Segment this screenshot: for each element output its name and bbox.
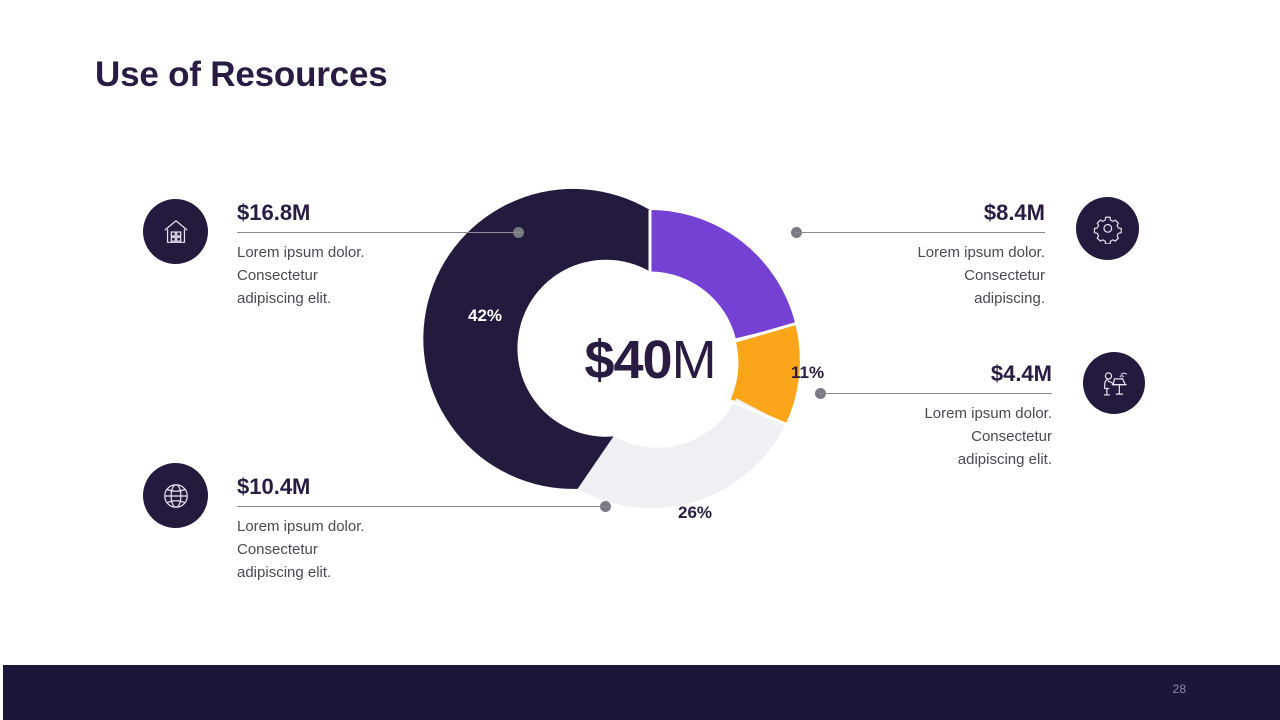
callout-rule-top-right bbox=[795, 232, 1045, 233]
donut-chart-svg bbox=[500, 210, 800, 510]
callout-icon-house[interactable] bbox=[143, 199, 208, 264]
callout-amount-top-left: $16.8M bbox=[237, 201, 522, 225]
gear-icon bbox=[1093, 214, 1123, 244]
callout-amount-top-right: $8.4M bbox=[795, 201, 1045, 225]
person-desk-wifi-icon bbox=[1099, 368, 1130, 399]
callout-rule-bottom-right bbox=[820, 393, 1052, 394]
footer-bar bbox=[3, 665, 1280, 720]
callout-bottom-right: $4.4M Lorem ipsum dolor. Consectetur adi… bbox=[820, 362, 1052, 472]
callout-amount-bottom-left: $10.4M bbox=[237, 475, 610, 499]
page-number: 28 bbox=[1173, 682, 1186, 696]
callout-rule-bottom-left bbox=[237, 506, 610, 507]
callout-top-left: $16.8M Lorem ipsum dolor. Consectetur ad… bbox=[237, 201, 522, 311]
callout-desc-bottom-left: Lorem ipsum dolor. Consectetur adipiscin… bbox=[237, 516, 610, 584]
callout-icon-gear[interactable] bbox=[1076, 197, 1139, 260]
callout-desc-bottom-right: Lorem ipsum dolor. Consectetur adipiscin… bbox=[820, 403, 1052, 471]
callout-desc-top-right: Lorem ipsum dolor. Consectetur adipiscin… bbox=[795, 242, 1045, 310]
callout-icon-person-desk[interactable] bbox=[1083, 352, 1145, 414]
donut-chart bbox=[500, 210, 800, 510]
callout-amount-bottom-right: $4.4M bbox=[820, 362, 1052, 386]
house-icon bbox=[161, 217, 191, 247]
callout-desc-top-left: Lorem ipsum dolor. Consectetur adipiscin… bbox=[237, 242, 522, 310]
globe-icon bbox=[161, 481, 191, 511]
callout-top-right: $8.4M Lorem ipsum dolor. Consectetur adi… bbox=[795, 201, 1045, 311]
callout-bottom-left: $10.4M Lorem ipsum dolor. Consectetur ad… bbox=[237, 475, 610, 585]
slide-canvas: Use of Resources $40M 21% 11% 26% 42% bbox=[0, 0, 1280, 720]
page-title: Use of Resources bbox=[95, 55, 387, 95]
callout-rule-top-left bbox=[237, 232, 522, 233]
callout-icon-globe[interactable] bbox=[143, 463, 208, 528]
donut-slice-21[interactable] bbox=[650, 210, 795, 338]
